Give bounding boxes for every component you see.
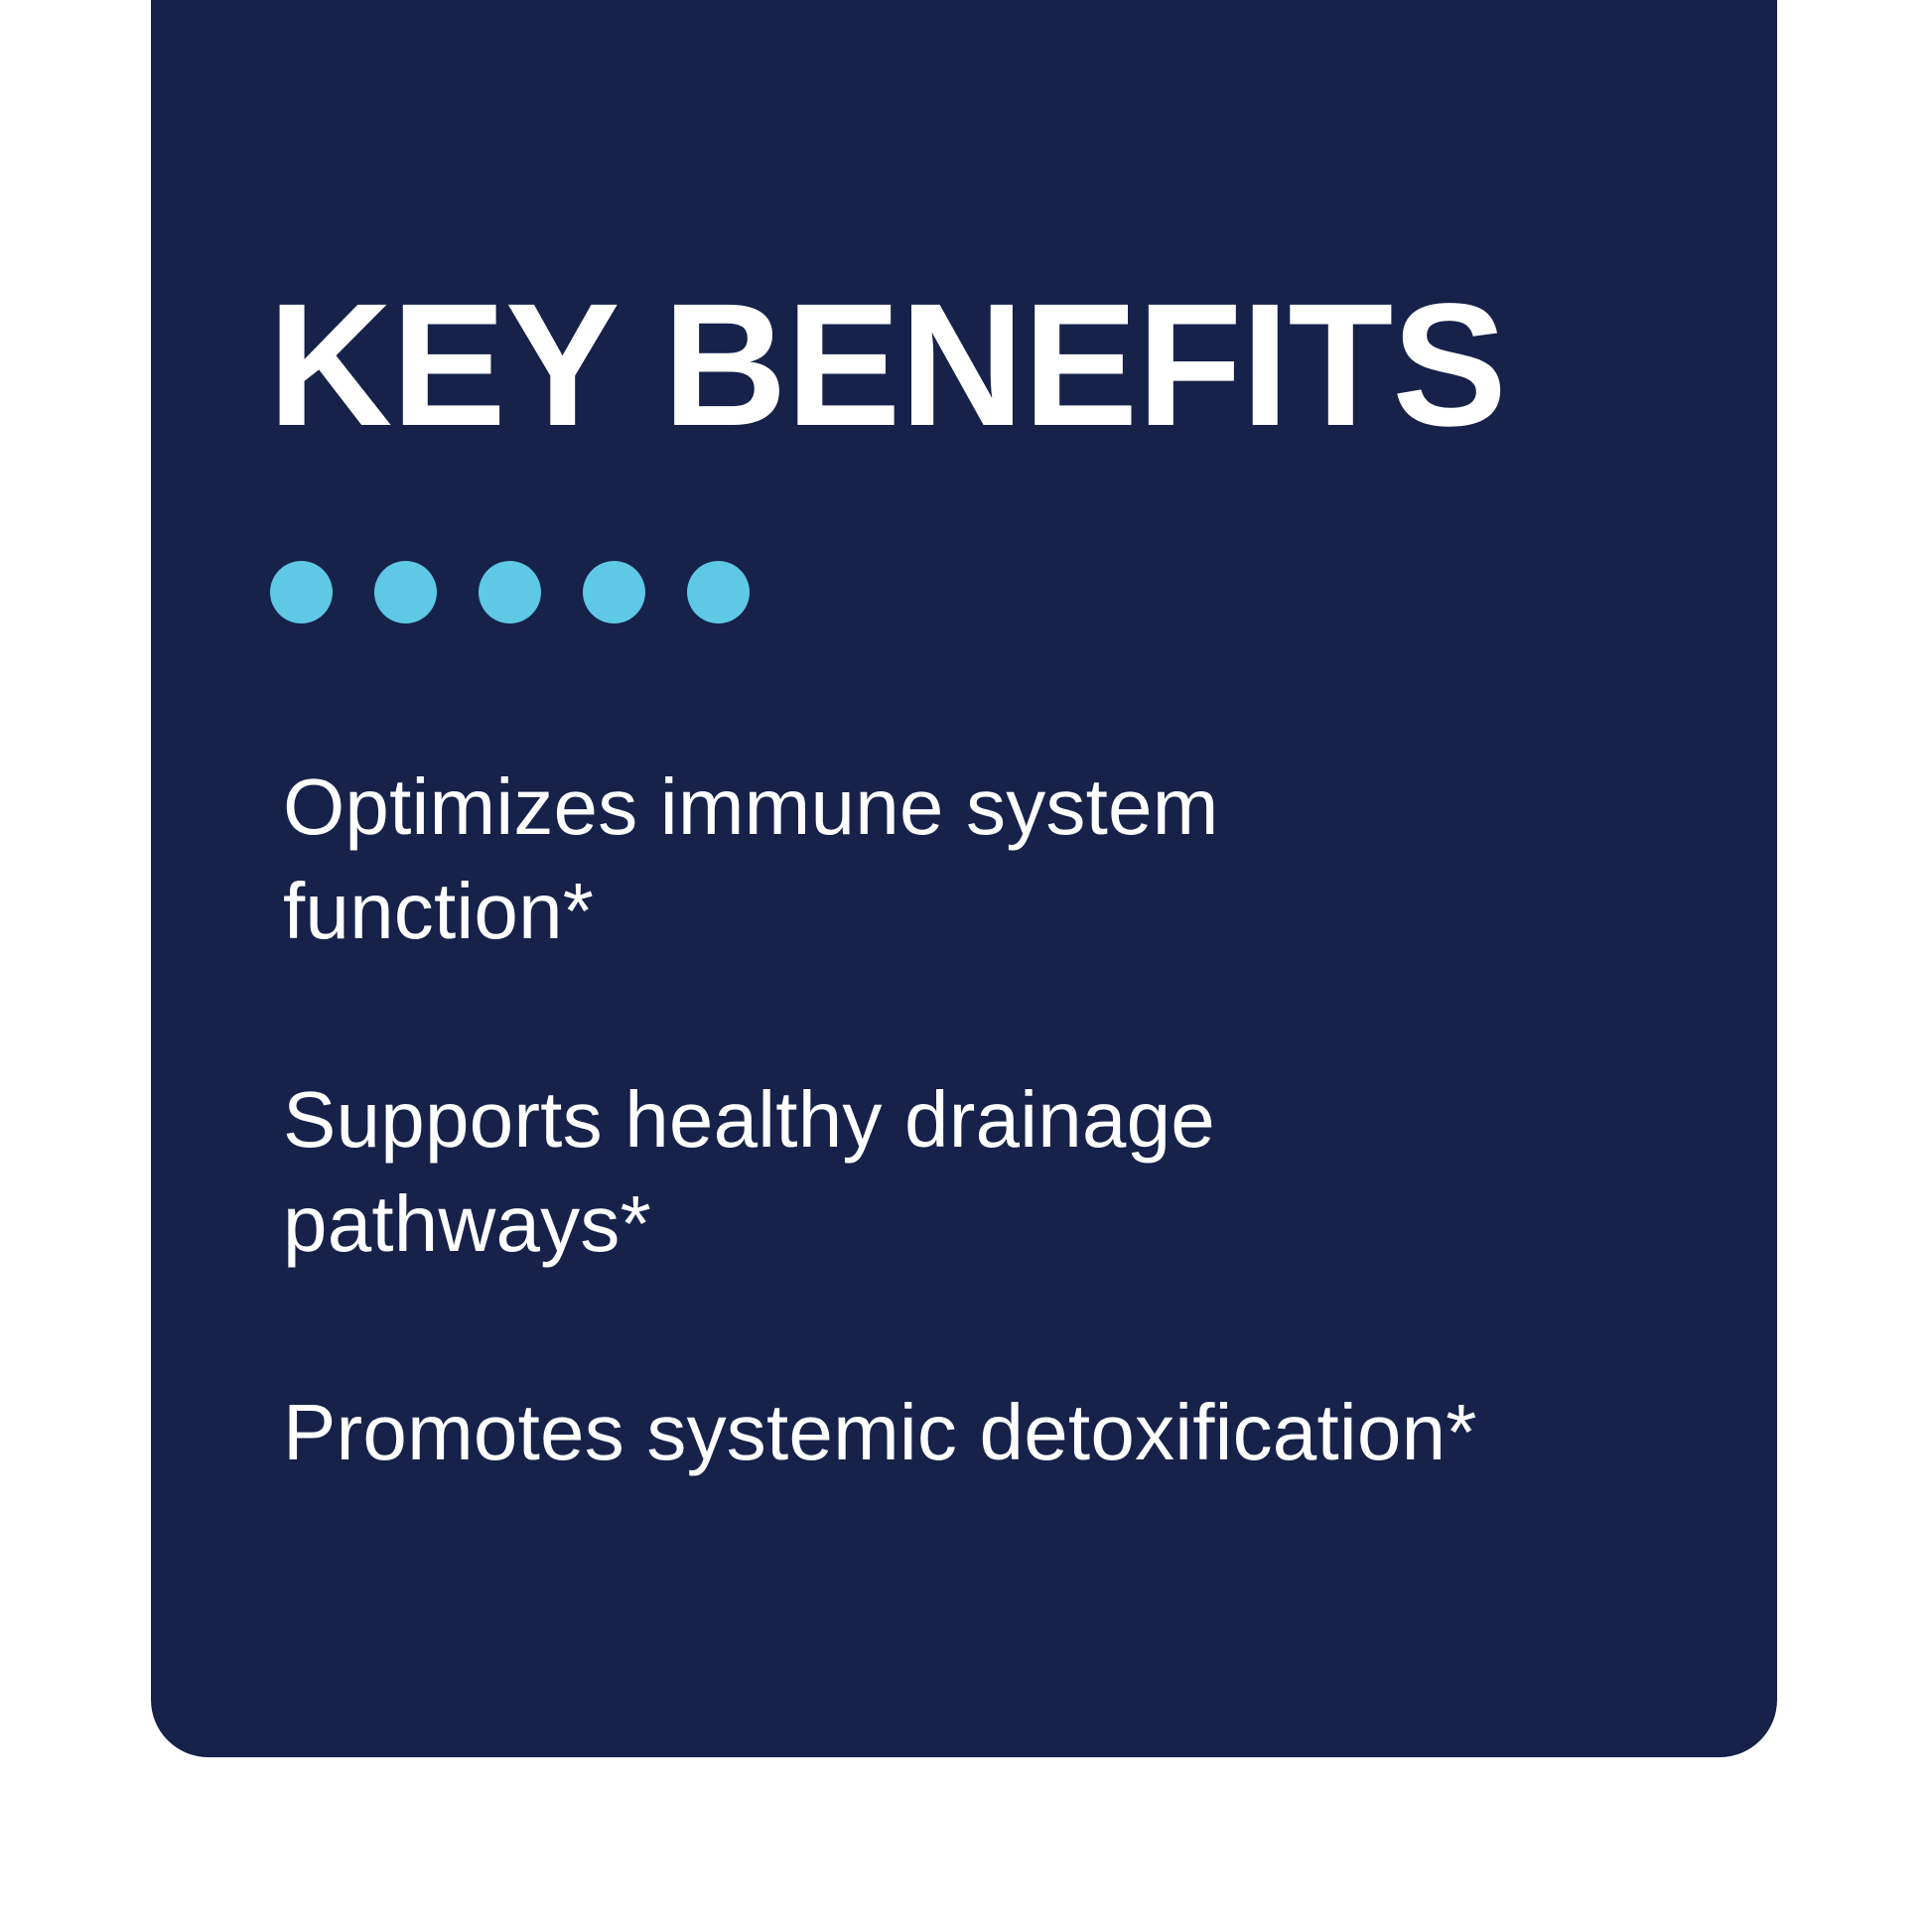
benefit-item-1: Optimizes immune system function* (283, 755, 1524, 963)
divider-dot-5 (687, 561, 750, 623)
benefits-list: Optimizes immune system function* Suppor… (283, 755, 1613, 1484)
divider-dot-2 (374, 561, 437, 623)
divider-dot-1 (270, 561, 333, 623)
dot-divider (270, 561, 750, 623)
divider-dot-3 (479, 561, 541, 623)
divider-dot-4 (583, 561, 645, 623)
benefit-item-3: Promotes systemic detoxification* (283, 1380, 1524, 1484)
benefit-item-2: Supports healthy drainage pathways* (283, 1067, 1524, 1276)
key-benefits-card: KEY BENEFITS Optimizes immune system fun… (151, 0, 1777, 1757)
page-title: KEY BENEFITS (268, 278, 1506, 453)
